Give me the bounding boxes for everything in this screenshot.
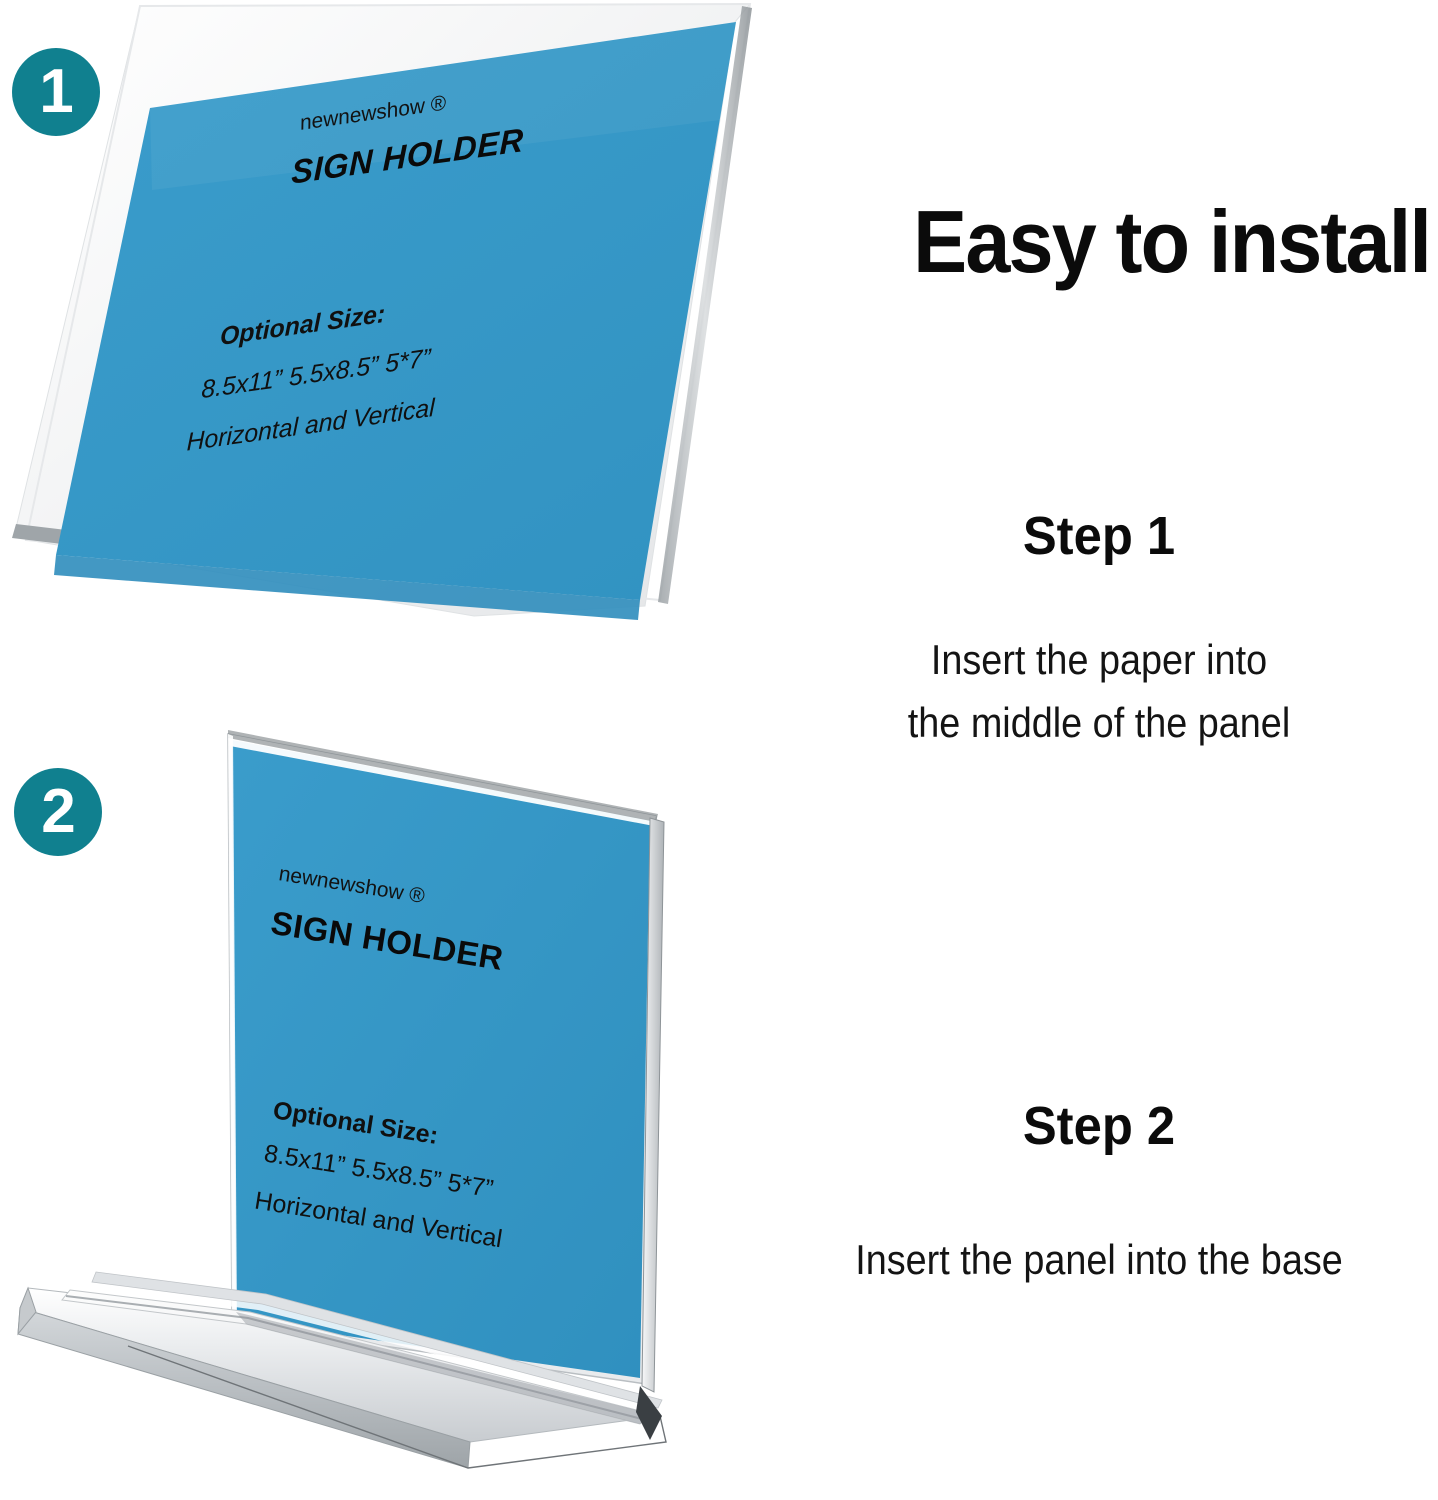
page-title: Easy to install bbox=[814, 198, 1430, 286]
step-1-heading: Step 1 bbox=[780, 508, 1417, 565]
illustration-step-2: newnewshow ® SIGN HOLDER Optional Size: … bbox=[0, 700, 780, 1500]
text-column: Easy to install Step 1 Insert the paper … bbox=[760, 0, 1438, 1500]
step-2-heading: Step 2 bbox=[780, 1098, 1417, 1155]
panel-foot-marker bbox=[636, 1386, 662, 1440]
illustration-step-1: newnewshow ® SIGN HOLDER Optional Size: … bbox=[0, 0, 780, 690]
printed-paper-sheet-2 bbox=[232, 740, 650, 1378]
step-2-line-1: Insert the panel into the base bbox=[799, 1228, 1398, 1291]
step-1-line-2: the middle of the panel bbox=[810, 691, 1388, 754]
sign-holder-tilted-graphic: newnewshow ® SIGN HOLDER Optional Size: … bbox=[0, 0, 780, 690]
step-2-description: Insert the panel into the base bbox=[794, 1228, 1404, 1291]
step-1-description: Insert the paper into the middle of the … bbox=[794, 628, 1404, 754]
infographic-canvas: 1 bbox=[0, 0, 1438, 1500]
sign-holder-upright-graphic: newnewshow ® SIGN HOLDER Optional Size: … bbox=[0, 700, 780, 1500]
step-1-line-1: Insert the paper into bbox=[810, 628, 1388, 691]
